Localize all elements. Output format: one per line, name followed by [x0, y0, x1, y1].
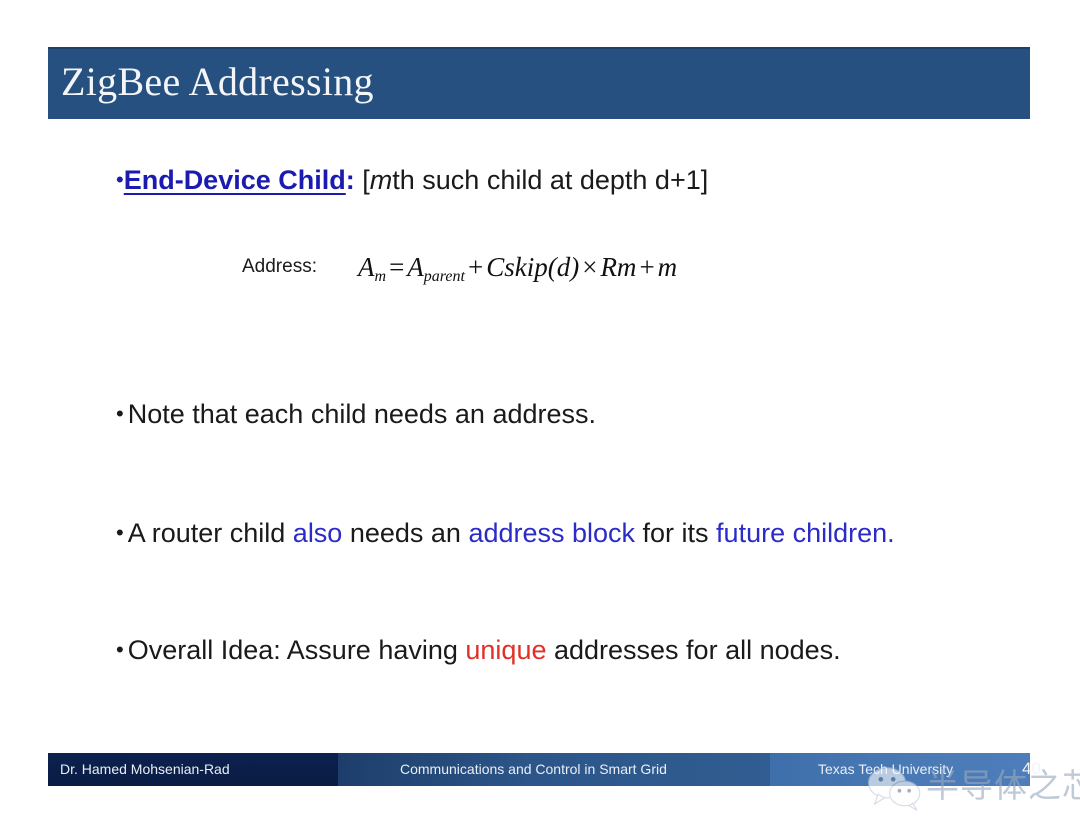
presentation-slide: ZigBee Addressing •End-Device Child: [mt…: [0, 0, 1080, 834]
end-device-rest-close: th such child at depth d+1]: [392, 165, 708, 195]
formula-equals: =: [386, 252, 407, 282]
formula-rhs-sub: parent: [424, 268, 465, 285]
address-label: Address:: [242, 256, 317, 278]
router-seg-also: also: [293, 518, 343, 548]
formula-rm-term: Rm: [600, 252, 636, 282]
bullet-router-child: •A router child also needs an address bl…: [116, 515, 895, 551]
bullet-note-text: Note that each child needs an address.: [128, 399, 596, 429]
router-seg-future-children: future children.: [716, 518, 895, 548]
bullet-marker-icon: •: [116, 167, 124, 192]
bullet-note-child-address: •Note that each child needs an address.: [116, 396, 596, 432]
page-title: ZigBee Addressing: [61, 53, 374, 111]
router-seg-1: A router child: [128, 518, 293, 548]
bullet-end-device-child: •End-Device Child: [mth such child at de…: [116, 162, 708, 198]
footer-course-text: Communications and Control in Smart Grid: [400, 761, 667, 777]
formula-times: ×: [579, 252, 600, 282]
router-seg-5: for its: [635, 518, 716, 548]
footer-author-text: Dr. Hamed Mohsenian-Rad: [60, 761, 230, 777]
footer-author-segment: Dr. Hamed Mohsenian-Rad: [48, 753, 338, 786]
bullet-marker-icon: •: [116, 520, 128, 545]
bullet-marker-icon: •: [116, 637, 128, 662]
bullet-marker-icon: •: [116, 401, 128, 426]
slide-page-number: 40: [1022, 759, 1041, 779]
formula-plus-2: +: [636, 252, 657, 282]
end-device-italic-var: m: [370, 165, 393, 195]
slide-footer: Dr. Hamed Mohsenian-Rad Communications a…: [48, 753, 1030, 786]
router-seg-3: needs an: [342, 518, 468, 548]
formula-lhs-var: A: [358, 252, 375, 282]
formula-cskip-term: Cskip(d): [486, 252, 579, 282]
end-device-child-colon: :: [346, 165, 355, 195]
formula-rhs-var: A: [407, 252, 424, 282]
footer-course-segment: Communications and Control in Smart Grid: [338, 753, 770, 786]
slide-title-banner: ZigBee Addressing: [48, 47, 1030, 119]
bullet-overall-idea: •Overall Idea: Assure having unique addr…: [116, 632, 841, 668]
overall-seg-unique: unique: [465, 635, 546, 665]
end-device-rest-open: [: [355, 165, 370, 195]
overall-seg-3: addresses for all nodes.: [546, 635, 840, 665]
footer-university-text: Texas Tech University: [818, 761, 953, 777]
formula-m-term: m: [658, 252, 678, 282]
address-formula: Am=Aparent+Cskip(d)×Rm+m: [358, 252, 677, 286]
footer-university-segment: Texas Tech University 40: [770, 753, 1030, 786]
formula-lhs-sub: m: [375, 268, 387, 285]
end-device-child-term: End-Device Child: [124, 165, 346, 195]
formula-plus-1: +: [465, 252, 486, 282]
banner-top-edge: [48, 47, 1030, 49]
router-seg-address-block: address block: [468, 518, 635, 548]
overall-seg-1: Overall Idea: Assure having: [128, 635, 466, 665]
